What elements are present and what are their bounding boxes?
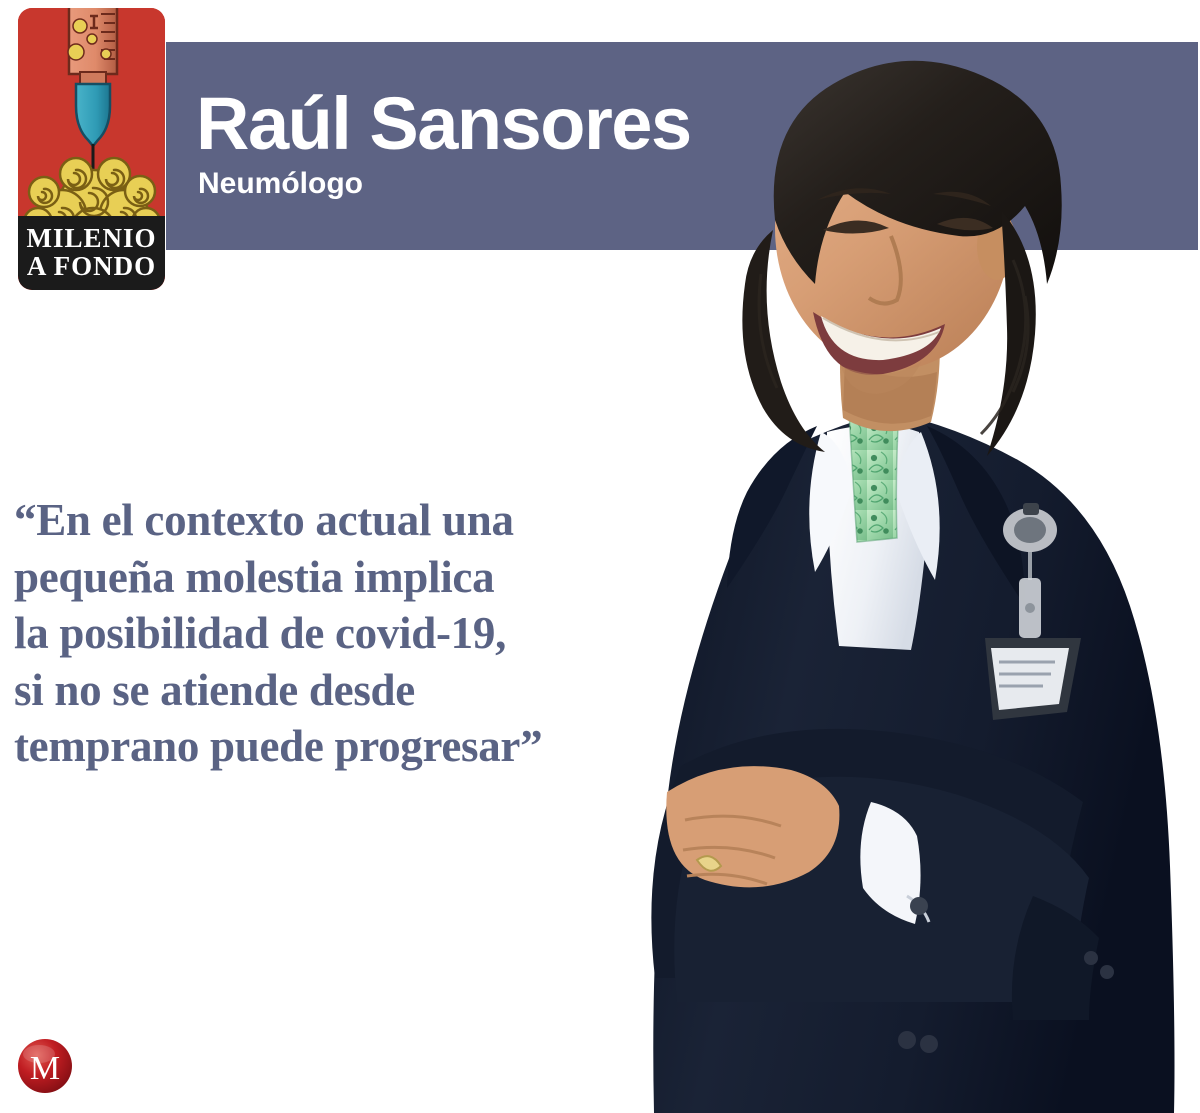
milenio-m-logo[interactable]: M (17, 1038, 73, 1094)
header-text-block: Raúl Sansores Neumólogo (196, 85, 691, 201)
milenio-a-fondo-logo[interactable]: MILENIO A FONDO (18, 8, 165, 290)
quote-line: si no se atiende desde (14, 662, 626, 719)
logo-caption-line-2: A FONDO (27, 253, 156, 281)
speaker-role: Neumólogo (198, 167, 691, 201)
speaker-name: Raúl Sansores (196, 85, 691, 163)
quote-line: la posibilidad de covid-19, (14, 605, 626, 662)
quote-text: “En el contexto actual una pequeña moles… (14, 492, 626, 775)
quote-line: pequeña molestia implica (14, 549, 626, 606)
quote-line: temprano puede progresar” (14, 718, 626, 775)
logo-caption: MILENIO A FONDO (18, 216, 165, 290)
milenio-m-letter: M (30, 1050, 60, 1087)
quote-card: Raúl Sansores Neumólogo (0, 0, 1200, 1113)
quote-line: “En el contexto actual una (14, 492, 626, 549)
logo-caption-line-1: MILENIO (26, 225, 156, 253)
